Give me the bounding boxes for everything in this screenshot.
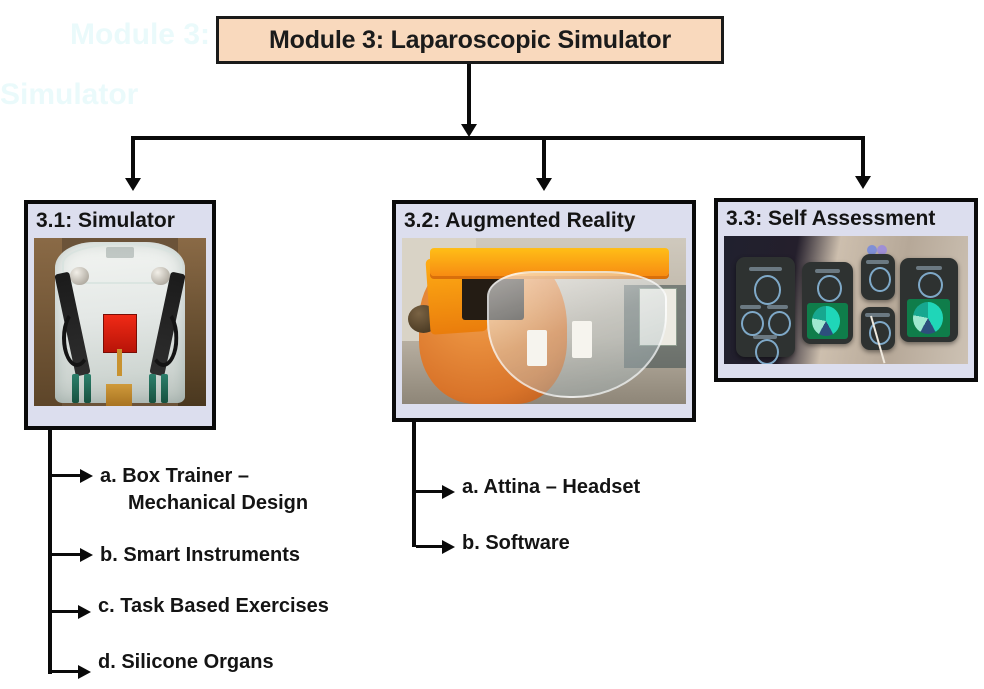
branch-arrowhead-3-1-b — [80, 548, 93, 562]
connector-bus — [131, 136, 865, 140]
leaf-item-3-1-d[interactable]: d. Silicone Organs — [98, 649, 274, 676]
leaf-item-3-1-a-line2: Mechanical Design — [100, 490, 308, 517]
page-title: Module 3: Laparoscopic Simulator — [269, 26, 671, 55]
branch-line-3-1-c — [52, 610, 80, 613]
module-label-3-2: 3.2: Augmented Reality — [402, 208, 686, 234]
leaf-item-3-2-b[interactable]: b. Software — [462, 530, 570, 557]
connector-drop-33 — [861, 136, 865, 180]
connector-arrowhead-33 — [855, 176, 871, 189]
self-assessment-dashboard-photo — [724, 236, 968, 364]
module-title-box: Module 3: Laparoscopic Simulator — [216, 16, 724, 64]
ar-headset-photo — [402, 238, 686, 404]
branch-spine-3-1 — [48, 428, 52, 674]
branch-arrowhead-3-2-b — [442, 540, 455, 554]
leaf-item-3-1-a-line1: a. Box Trainer – — [100, 465, 249, 487]
module-box-3-3[interactable]: 3.3: Self Assessment — [714, 198, 978, 382]
branch-line-3-2-b — [416, 545, 444, 548]
branch-line-3-1-a — [52, 474, 82, 477]
module-label-3-3: 3.3: Self Assessment — [724, 206, 968, 232]
connector-arrowhead-31 — [125, 178, 141, 191]
module-label-3-1: 3.1: Simulator — [34, 208, 206, 234]
leaf-item-3-1-c[interactable]: c. Task Based Exercises — [98, 593, 329, 620]
leaf-item-3-2-a[interactable]: a. Attina – Headset — [462, 474, 640, 501]
leaf-item-3-1-b[interactable]: b. Smart Instruments — [100, 542, 300, 569]
module-box-3-1[interactable]: 3.1: Simulator — [24, 200, 216, 430]
branch-arrowhead-3-1-a — [80, 469, 93, 483]
branch-arrowhead-3-1-d — [78, 665, 91, 679]
leaf-item-3-1-a[interactable]: a. Box Trainer – Mechanical Design — [100, 463, 370, 517]
branch-line-3-2-a — [416, 490, 444, 493]
box-trainer-photo — [34, 238, 206, 406]
branch-arrowhead-3-2-a — [442, 485, 455, 499]
diagram-canvas: opic Simulator Module 3: Laparoscopic Mo… — [0, 0, 984, 689]
branch-arrowhead-3-1-c — [78, 605, 91, 619]
connector-drop-32 — [542, 136, 546, 182]
ghost-artifact-text: opic Simulator — [0, 78, 138, 112]
connector-arrowhead-32 — [536, 178, 552, 191]
connector-title-stem — [467, 64, 471, 130]
branch-spine-3-2 — [412, 421, 416, 547]
module-box-3-2[interactable]: 3.2: Augmented Reality — [392, 200, 696, 422]
branch-line-3-1-b — [52, 553, 82, 556]
connector-drop-31 — [131, 136, 135, 182]
branch-line-3-1-d — [52, 670, 80, 673]
